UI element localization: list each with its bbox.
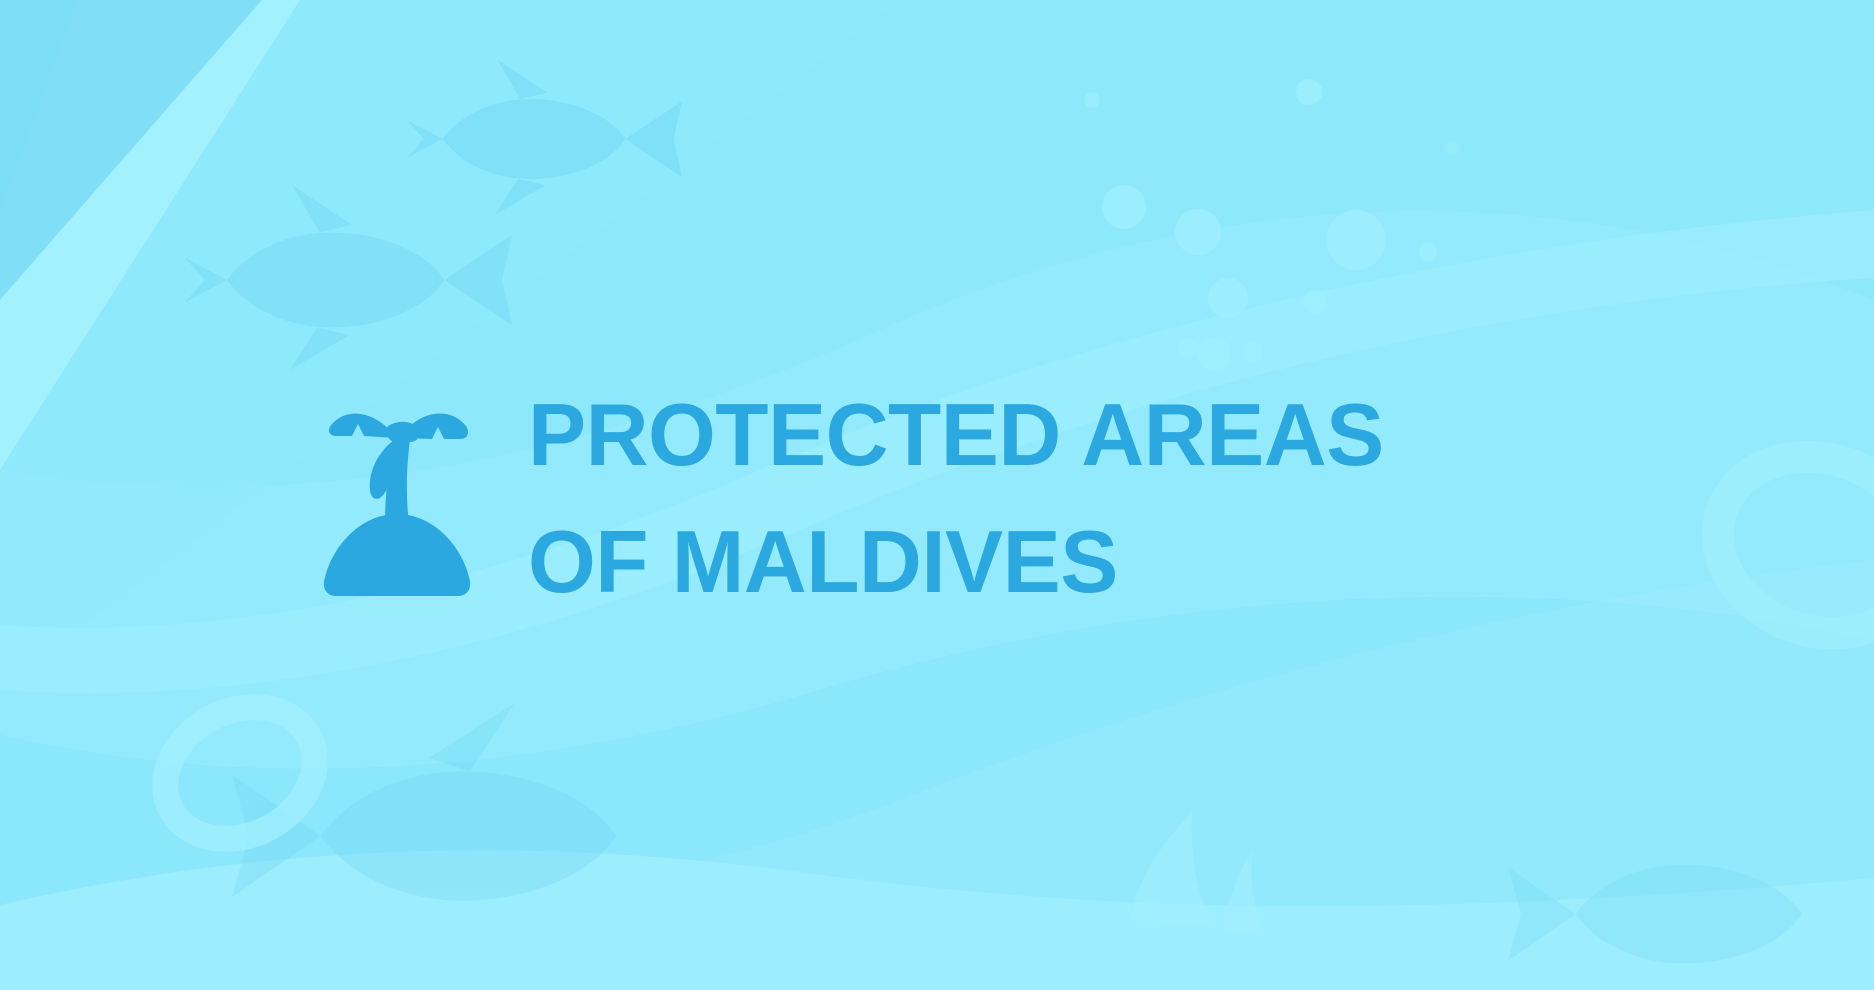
bubble — [1445, 141, 1459, 155]
bubble — [1419, 243, 1437, 261]
bubble — [1303, 290, 1327, 314]
title-line-1: PROTECTED AREAS — [528, 372, 1384, 499]
bubble — [1326, 210, 1386, 270]
title-line-2: OF MALDIVES — [528, 499, 1384, 626]
bubble — [1208, 278, 1248, 318]
bubble — [1178, 337, 1198, 357]
island-mound — [324, 514, 470, 596]
bubble — [1197, 337, 1231, 371]
logo-lockup: PROTECTED AREAS OF MALDIVES — [318, 372, 1392, 625]
title-block: PROTECTED AREAS OF MALDIVES — [528, 372, 1392, 625]
bubble — [1102, 185, 1146, 229]
bubble — [1175, 209, 1221, 255]
palm-frond-left — [329, 414, 396, 438]
protected-areas-banner: PROTECTED AREAS OF MALDIVES — [0, 0, 1874, 990]
bubble — [1084, 92, 1100, 108]
palm-island-icon — [318, 396, 476, 601]
bubble — [1296, 79, 1322, 105]
bubble — [1243, 342, 1263, 362]
